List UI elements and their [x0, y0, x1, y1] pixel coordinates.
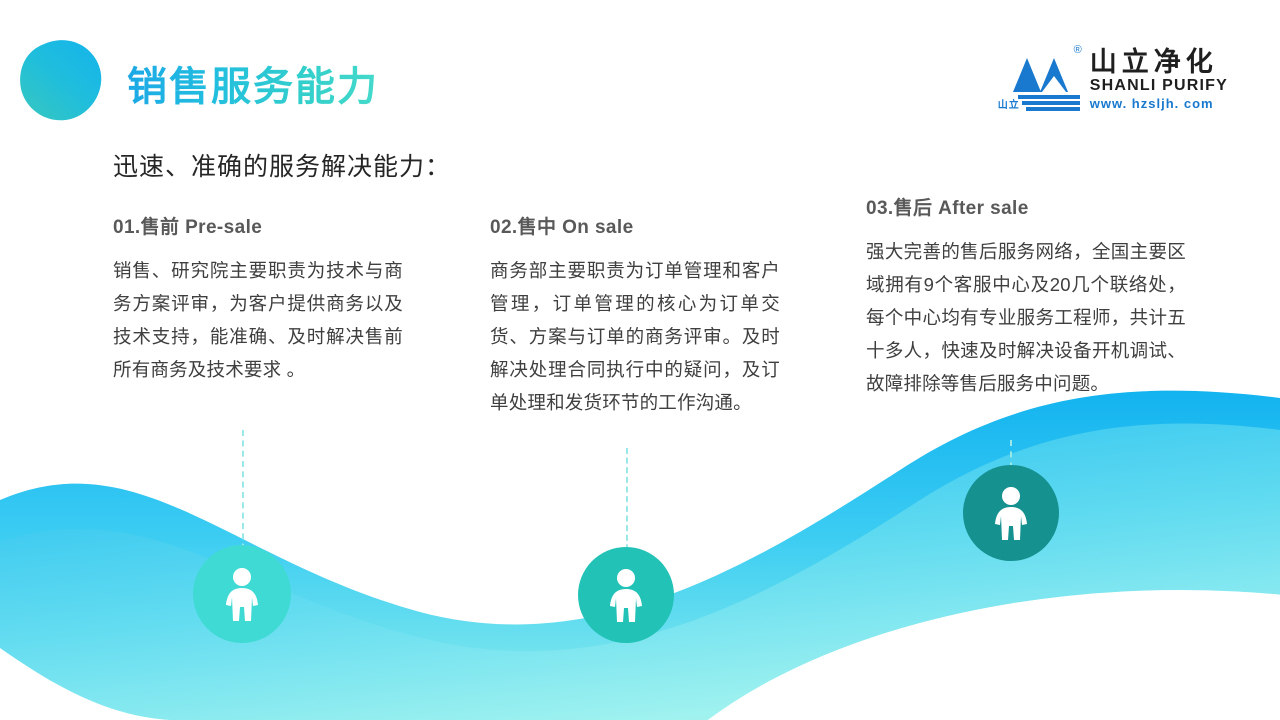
node-pre-sale: [193, 545, 291, 643]
column-heading: 02.售中 On sale: [490, 212, 780, 239]
column-after-sale: 03.售后 After sale 强大完善的售后服务网络，全国主要区域拥有9个客…: [866, 193, 1186, 401]
column-heading: 03.售后 After sale: [866, 193, 1186, 220]
column-body: 销售、研究院主要职责为技术与商务方案评审，为客户提供商务以及技术支持，能准确、及…: [113, 255, 403, 387]
slide-root: 销售服务能力 ® 山立 山立净化 SHANLI PURIFY www. hzsl…: [0, 0, 1280, 720]
person-icon: [992, 486, 1030, 540]
node-on-sale: [578, 547, 674, 643]
column-heading: 01.售前 Pre-sale: [113, 212, 403, 239]
person-icon: [607, 568, 645, 622]
person-icon: [223, 567, 261, 621]
column-body: 强大完善的售后服务网络，全国主要区域拥有9个客服中心及20几个联络处，每个中心均…: [866, 236, 1186, 401]
column-pre-sale: 01.售前 Pre-sale 销售、研究院主要职责为技术与商务方案评审，为客户提…: [113, 212, 403, 387]
column-body: 商务部主要职责为订单管理和客户管理，订单管理的核心为订单交货、方案与订单的商务评…: [490, 255, 780, 420]
node-after-sale: [963, 465, 1059, 561]
column-on-sale: 02.售中 On sale 商务部主要职责为订单管理和客户管理，订单管理的核心为…: [490, 212, 780, 420]
